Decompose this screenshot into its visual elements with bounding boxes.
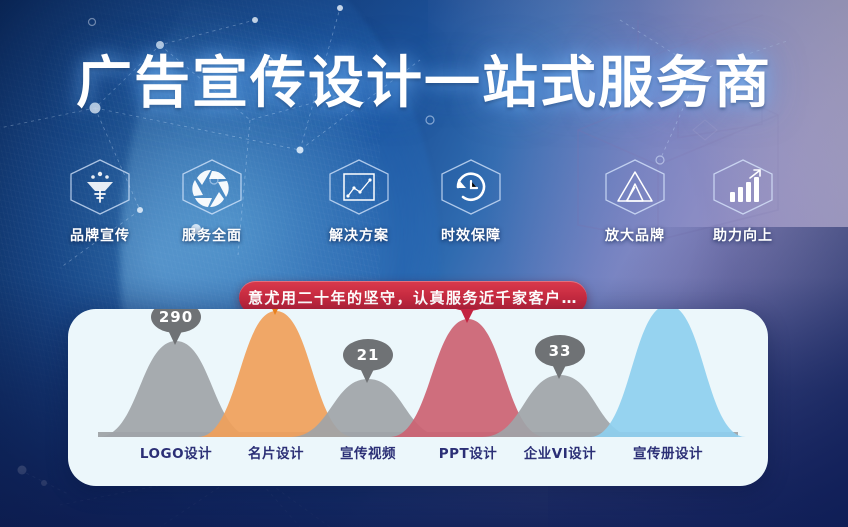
chart-category-label: 企业VI设计 <box>500 442 620 462</box>
megaphone-brand-icon <box>67 158 133 216</box>
chart-category-labels: LOGO设计名片设计宣传视频PPT设计企业VI设计宣传册设计 <box>68 442 768 474</box>
value-bubble-2: 21 <box>343 339 393 383</box>
triangle-brand-icon <box>602 158 668 216</box>
feature-label: 解决方案 <box>311 225 407 245</box>
feature-label: 助力向上 <box>695 225 791 245</box>
chart-analysis-icon <box>326 158 392 216</box>
feature-item-timeliness[interactable]: 时效保障 <box>423 158 519 245</box>
bar-growth-icon <box>710 158 776 216</box>
svg-text:21: 21 <box>357 346 380 364</box>
page-title: 广告宣传设计一站式服务商 <box>0 56 848 112</box>
feature-item-amplify[interactable]: 放大品牌 <box>587 158 683 245</box>
svg-text:290: 290 <box>159 309 193 326</box>
svg-text:33: 33 <box>549 342 572 360</box>
value-bubble-3: 320 <box>443 309 493 323</box>
feature-item-brand[interactable]: 品牌宣传 <box>52 158 148 245</box>
feature-label: 服务全面 <box>164 225 260 245</box>
chart-bell-5 <box>590 309 746 437</box>
bell-curve-chart: 2903502132033560 <box>68 309 768 449</box>
statistics-card: 2903502132033560 LOGO设计名片设计宣传视频PPT设计企业VI… <box>68 309 768 486</box>
feature-icon-row: 品牌宣传 服务全面 <box>0 158 848 254</box>
feature-item-solution[interactable]: 解决方案 <box>311 158 407 245</box>
feature-item-service[interactable]: 服务全面 <box>164 158 260 245</box>
chart-category-label: 宣传册设计 <box>608 442 728 462</box>
value-bubble-4: 33 <box>535 335 585 379</box>
banner-canvas: 广告宣传设计一站式服务商 品牌宣传 <box>0 0 848 527</box>
feature-label: 时效保障 <box>423 225 519 245</box>
feature-label: 品牌宣传 <box>52 225 148 245</box>
feature-label: 放大品牌 <box>587 225 683 245</box>
aperture-icon <box>179 158 245 216</box>
value-bubble-0: 290 <box>151 309 201 345</box>
clock-rewind-icon <box>438 158 504 216</box>
feature-item-growth[interactable]: 助力向上 <box>695 158 791 245</box>
